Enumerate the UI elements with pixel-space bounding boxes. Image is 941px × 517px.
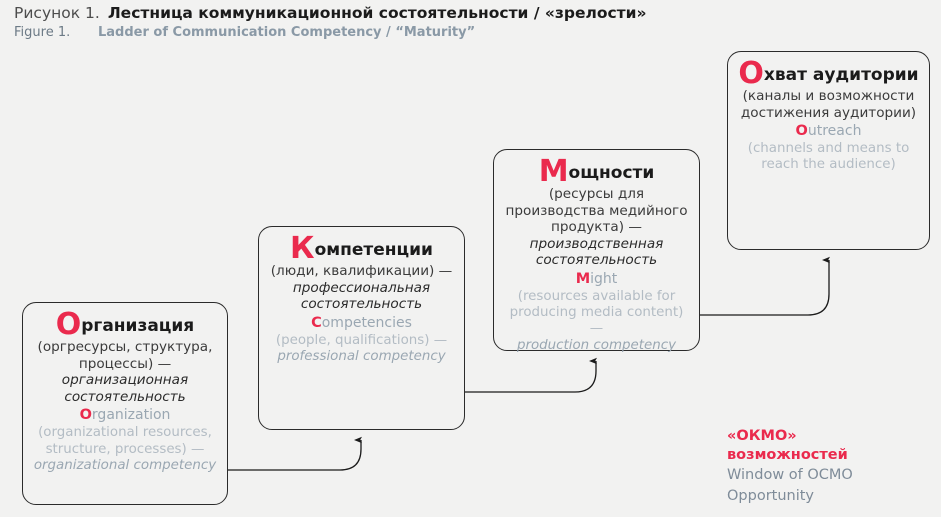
box-organization[interactable]: Организация (оргресурсы, структура, проц… xyxy=(22,302,228,505)
caption-russian-label: Рисунок 1. xyxy=(14,4,100,22)
okmo-legend-ru-line1: «ОКМО» xyxy=(727,427,927,446)
box-outreach-dropcap: О xyxy=(738,56,764,91)
caption-russian-row: Рисунок 1. Лестница коммуникационной сос… xyxy=(14,4,929,22)
box-outreach-heading: Охват аудитории xyxy=(736,62,921,86)
box-organization-en-heading-rest: rganization xyxy=(92,407,170,423)
okmo-legend: «ОКМО» возможностей Window of OCMO Oppor… xyxy=(727,427,927,505)
box-might-en-italic: production competency xyxy=(502,338,691,354)
okmo-legend-ru-line2: возможностей xyxy=(727,446,927,465)
okmo-legend-en-line1: Window of OCMO xyxy=(727,466,927,485)
box-outreach-ru-sub: (каналы и возможности достижения аудитор… xyxy=(736,88,921,121)
box-competencies[interactable]: Компетенции (люди, квалификации) — профе… xyxy=(258,226,465,430)
box-organization-ru-sub: (оргресурсы, структура, процессы) — xyxy=(31,339,219,372)
arrow-might-to-outreach xyxy=(700,260,829,315)
caption-english-label: Figure 1. xyxy=(14,25,98,40)
box-organization-en-cap: O xyxy=(80,407,92,423)
box-competencies-heading-rest: омпетенции xyxy=(315,240,433,260)
box-competencies-en-heading: Competencies xyxy=(267,314,456,333)
box-might-en-cap: M xyxy=(576,271,590,287)
box-organization-en-heading: Organization xyxy=(31,406,219,425)
box-might-en-heading: Might xyxy=(502,270,691,289)
box-competencies-en-heading-rest: ompetencies xyxy=(322,315,412,331)
caption-english-row: Figure 1. Ladder of Communication Compet… xyxy=(14,25,929,40)
figure-caption: Рисунок 1. Лестница коммуникационной сос… xyxy=(14,4,929,40)
box-outreach[interactable]: Охват аудитории (каналы и возможности до… xyxy=(727,51,930,250)
box-outreach-en-sub: (channels and means to reach the audienc… xyxy=(736,141,921,174)
box-organization-ru-italic: организационная состоятельность xyxy=(31,372,219,405)
box-might[interactable]: Мощности (ресурсы для производства медий… xyxy=(493,149,700,351)
okmo-legend-en-line2: Opportunity xyxy=(727,487,927,506)
box-might-heading-rest: ощности xyxy=(569,163,655,183)
box-competencies-heading: Компетенции xyxy=(267,237,456,261)
box-might-heading: Мощности xyxy=(502,160,691,184)
box-outreach-en-cap: O xyxy=(796,123,808,139)
box-might-en-heading-rest: ight xyxy=(590,271,617,287)
figure-canvas: Рисунок 1. Лестница коммуникационной сос… xyxy=(0,0,941,517)
box-competencies-en-sub: (people, qualifications) — xyxy=(267,333,456,349)
box-competencies-ru-sub: (люди, квалификации) — xyxy=(267,263,456,280)
box-organization-en-italic: organizational competency xyxy=(31,458,219,474)
box-organization-heading: Организация xyxy=(31,313,219,337)
caption-russian-title: Лестница коммуникационной состоятельност… xyxy=(108,4,647,22)
box-might-en-sub: (resources available for producing media… xyxy=(502,289,691,338)
box-competencies-ru-italic: профессиональная состоятельность xyxy=(267,280,456,313)
box-outreach-heading-rest: хват аудитории xyxy=(764,65,919,85)
caption-english-title: Ladder of Communication Competency / “Ma… xyxy=(98,25,475,40)
box-organization-heading-rest: рганизация xyxy=(81,316,194,336)
box-outreach-en-heading: Outreach xyxy=(736,122,921,141)
arrow-organization-to-competencies xyxy=(228,440,361,470)
box-organization-en-sub: (organizational resources, structure, pr… xyxy=(31,425,219,458)
box-might-dropcap: М xyxy=(539,154,569,189)
box-competencies-en-italic: professional competency xyxy=(267,349,456,365)
box-competencies-dropcap: К xyxy=(290,231,315,266)
box-outreach-en-heading-rest: utreach xyxy=(808,123,862,139)
box-organization-dropcap: О xyxy=(56,307,82,342)
arrow-competencies-to-might xyxy=(465,361,596,392)
box-might-ru-sub: (ресурсы для производства медийного прод… xyxy=(502,186,691,236)
box-competencies-en-cap: C xyxy=(311,315,322,331)
box-might-ru-italic: производственная состоятельность xyxy=(502,236,691,269)
